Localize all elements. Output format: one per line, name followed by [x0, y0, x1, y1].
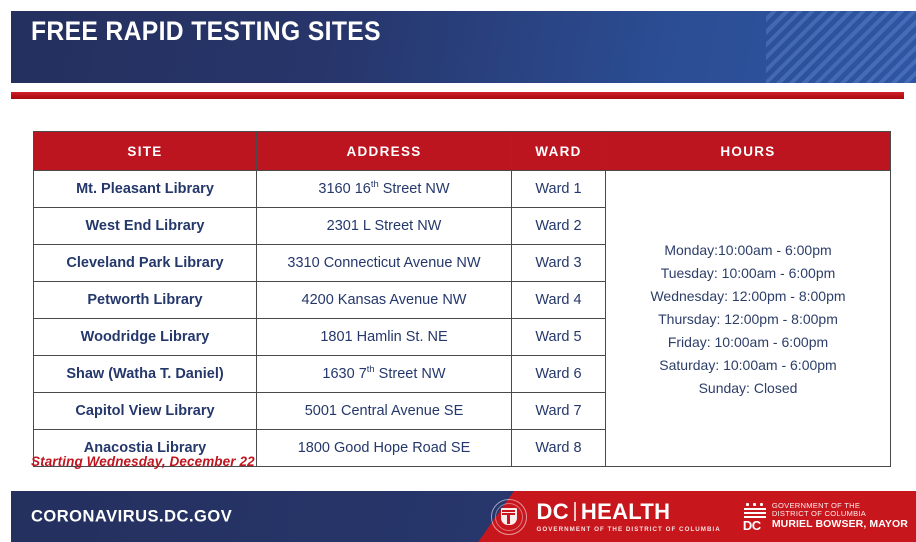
cell-address-prefix: 1630: [322, 366, 358, 382]
hours-line: Friday: 10:00am - 6:00pm: [612, 334, 884, 350]
footer-red-panel: DC HEALTH GOVERNMENT OF THE DISTRICT OF …: [436, 491, 916, 542]
starting-date-note: Starting Wednesday, December 22: [31, 454, 255, 469]
header-banner: FREE RAPID TESTING SITES: [11, 11, 916, 83]
cell-address-suffix: Street NW: [375, 366, 446, 382]
hours-line: Monday:10:00am - 6:00pm: [612, 242, 884, 258]
cell-address: 1800 Good Hope Road SE: [257, 430, 512, 467]
page-title-text: FREE RAPID TESTING SITES: [31, 16, 381, 47]
cell-address: 3160 16th Street NW: [257, 171, 512, 208]
cell-site: Woodridge Library: [34, 319, 257, 356]
page-title: FREE RAPID TESTING SITES: [31, 32, 407, 63]
dc-health-logo-dc: DC: [537, 501, 569, 523]
cell-address: 2301 L Street NW: [257, 208, 512, 245]
hours-list: Monday:10:00am - 6:00pmTuesday: 10:00am …: [612, 242, 884, 396]
header-diagonal-stripes-decoration: [766, 11, 916, 83]
dc-health-logo-subtitle: GOVERNMENT OF THE DISTRICT OF COLUMBIA: [537, 526, 721, 533]
dc-health-logo: DC HEALTH GOVERNMENT OF THE DISTRICT OF …: [537, 501, 721, 533]
cell-address-suffix: Street NW: [379, 181, 450, 197]
mayor-logo: DC GOVERNMENT OF THE DISTRICT OF COLUMBI…: [743, 502, 916, 532]
testing-sites-table-wrapper: SITE ADDRESS WARD HOURS Mt. Pleasant Lib…: [33, 131, 890, 467]
cell-ward: Ward 5: [512, 319, 606, 356]
cell-ward: Ward 1: [512, 171, 606, 208]
cell-address-number: 7: [359, 366, 367, 382]
cell-ward: Ward 7: [512, 393, 606, 430]
mayor-logo-line3: MURIEL BOWSER, MAYOR: [772, 519, 908, 531]
dc-health-seal-icon: [491, 499, 527, 535]
cell-site: Shaw (Watha T. Daniel): [34, 356, 257, 393]
dc-health-logo-divider: [574, 502, 576, 521]
column-header-ward: WARD: [512, 132, 606, 171]
column-header-hours: HOURS: [606, 132, 891, 171]
table-header-row: SITE ADDRESS WARD HOURS: [34, 132, 891, 171]
cell-address: 5001 Central Avenue SE: [257, 393, 512, 430]
dc-flag-stars-icon: [744, 502, 766, 507]
hours-line: Saturday: 10:00am - 6:00pm: [612, 357, 884, 373]
cell-site: West End Library: [34, 208, 257, 245]
cell-site: Cleveland Park Library: [34, 245, 257, 282]
cell-ward: Ward 8: [512, 430, 606, 467]
mayor-logo-monogram: DC: [743, 519, 761, 532]
footer-website-url[interactable]: CORONAVIRUS.DC.GOV: [31, 507, 232, 526]
cell-address: 1801 Hamlin St. NE: [257, 319, 512, 356]
table-body: Mt. Pleasant Library3160 16th Street NWW…: [34, 171, 891, 467]
cell-site: Mt. Pleasant Library: [34, 171, 257, 208]
cell-site: Capitol View Library: [34, 393, 257, 430]
testing-sites-table: SITE ADDRESS WARD HOURS Mt. Pleasant Lib…: [33, 131, 891, 467]
dc-flag-bars-icon: [744, 508, 766, 519]
cell-ward: Ward 2: [512, 208, 606, 245]
cell-ward: Ward 4: [512, 282, 606, 319]
mayor-logo-text: GOVERNMENT OF THE DISTRICT OF COLUMBIA M…: [772, 502, 908, 532]
column-header-site: SITE: [34, 132, 257, 171]
hours-line: Tuesday: 10:00am - 6:00pm: [612, 265, 884, 281]
dc-flag-icon: DC: [743, 502, 769, 532]
dc-health-logo-main: DC HEALTH: [537, 501, 721, 523]
table-row: Mt. Pleasant Library3160 16th Street NWW…: [34, 171, 891, 208]
hours-line: Wednesday: 12:00pm - 8:00pm: [612, 288, 884, 304]
dc-health-logo-health: HEALTH: [581, 501, 670, 523]
cell-address: 4200 Kansas Avenue NW: [257, 282, 512, 319]
hours-line: Sunday: Closed: [612, 380, 884, 396]
cell-address-ordinal: th: [371, 178, 379, 189]
cell-ward: Ward 6: [512, 356, 606, 393]
column-header-address: ADDRESS: [257, 132, 512, 171]
hours-line: Thursday: 12:00pm - 8:00pm: [612, 311, 884, 327]
footer-logos: DC HEALTH GOVERNMENT OF THE DISTRICT OF …: [491, 491, 916, 542]
cell-hours: Monday:10:00am - 6:00pmTuesday: 10:00am …: [606, 171, 891, 467]
cell-address-prefix: 3160: [318, 181, 354, 197]
footer-bar: CORONAVIRUS.DC.GOV DC HEALTH GOVERNMENT …: [11, 491, 916, 542]
header-red-divider: [11, 92, 904, 99]
cell-ward: Ward 3: [512, 245, 606, 282]
cell-site: Petworth Library: [34, 282, 257, 319]
cell-address-number: 16: [355, 181, 371, 197]
cell-address: 3310 Connecticut Avenue NW: [257, 245, 512, 282]
cell-address: 1630 7th Street NW: [257, 356, 512, 393]
shield-icon: [501, 508, 517, 525]
cell-address-ordinal: th: [367, 363, 375, 374]
